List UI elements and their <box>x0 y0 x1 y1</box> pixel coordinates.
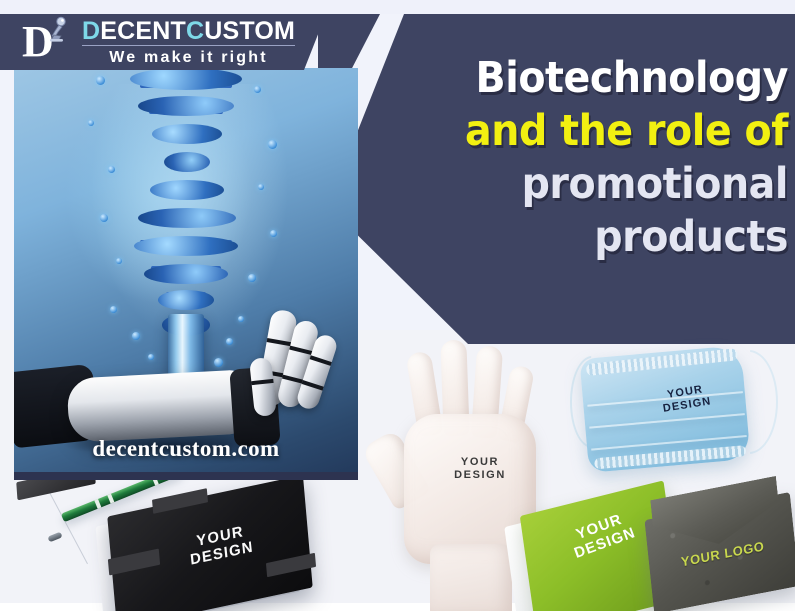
hero-image-dna-robot-hand: decentcustom.com <box>14 68 358 480</box>
logo-name-ustom: USTOM <box>204 17 295 45</box>
mask-body: YOUR DESIGN <box>579 345 750 473</box>
logo-name-ecent: ECENT <box>100 17 186 45</box>
logo-inner: D DECENTCUSTOM We make it right <box>22 14 295 70</box>
logo-name-c: C <box>186 17 204 45</box>
top-strip <box>0 0 795 14</box>
logo-wordmark: DECENTCUSTOM We make it right <box>82 18 295 67</box>
logo-mark: D <box>22 17 78 67</box>
logo-name-d: D <box>82 17 100 45</box>
promotional-banner: D DECENTCUSTOM We make it right <box>0 0 795 611</box>
glove-imprint: YOUR DESIGN <box>428 456 532 482</box>
mask-bottom-edge <box>594 445 747 469</box>
product-face-mask: YOUR DESIGN <box>568 336 786 482</box>
headline-line-3: promotional <box>411 158 788 211</box>
hero-bottom-bar <box>14 472 358 480</box>
robot-forearm <box>66 369 251 442</box>
headline-line-2: and the role of <box>411 105 788 158</box>
glove-imprint-line1: YOUR <box>428 456 532 469</box>
mask-pleat-2 <box>589 413 744 429</box>
product-black-notebook: YOUR DESIGN <box>110 496 320 611</box>
robot-microscope-icon <box>42 16 72 46</box>
mask-imprint: YOUR DESIGN <box>642 380 731 419</box>
logo-brand-name: DECENTCUSTOM <box>82 18 295 46</box>
product-felt-pouch: YOUR LOGO <box>648 490 795 611</box>
mask-top-edge <box>586 348 739 376</box>
headline-line-1: Biotechnology <box>411 52 788 105</box>
brand-logo-bar[interactable]: D DECENTCUSTOM We make it right <box>0 14 326 70</box>
hero-url-caption: decentcustom.com <box>14 436 358 462</box>
glove-wrist <box>430 544 512 611</box>
headline-line-4: products <box>411 211 788 264</box>
logo-tagline: We make it right <box>82 48 295 67</box>
headline-block: Biotechnology and the role of promotiona… <box>378 52 788 264</box>
glove-imprint-line2: DESIGN <box>428 469 532 482</box>
